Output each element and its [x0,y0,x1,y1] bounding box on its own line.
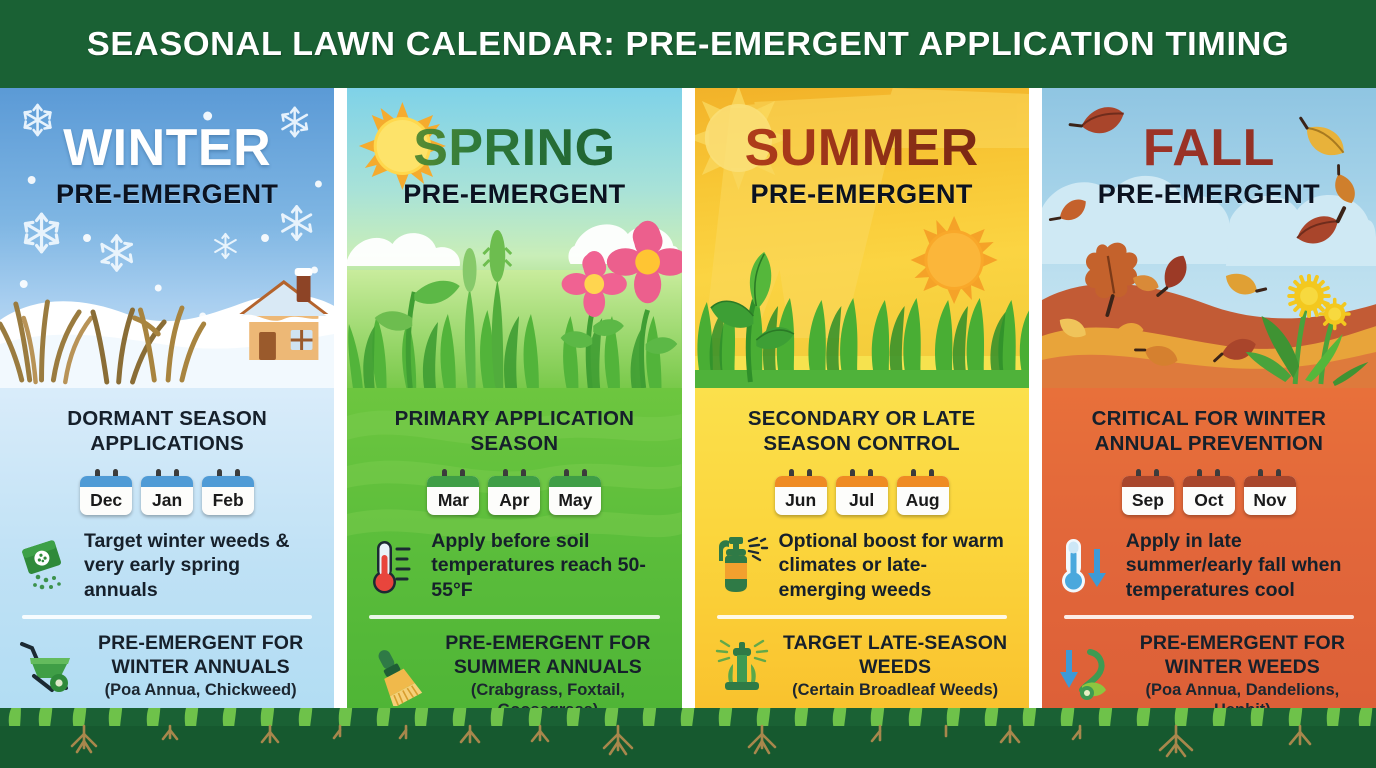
sprayer-bottle-icon [713,535,769,597]
month-chip[interactable]: Dec [80,469,132,515]
house-icon [239,268,328,360]
summer-note-text: Optional boost for warm climates or late… [779,529,1011,602]
month-chip[interactable]: Jan [141,469,193,515]
fall-note-row: Apply in late summer/early fall when tem… [1058,529,1360,602]
summer-hero-art: Summer Pre-Emergent [695,88,1029,388]
spring-divider [369,615,659,619]
thermometer-icon [365,535,421,597]
down-arrow-icon [1088,549,1106,587]
fall-headline: Critical for Winter Annual Prevention [1058,406,1360,456]
fall-divider [1064,615,1354,619]
wheelbarrow-icon [18,636,76,696]
summer-headline: Secondary or Late Season Control [711,406,1013,456]
sun-icon [359,102,446,190]
month-chip[interactable]: Jul [836,469,888,515]
winter-note-row: Target winter weeds & very early spring … [16,529,318,602]
month-chip[interactable]: Apr [488,469,540,515]
down-arrow-icon [1060,650,1078,688]
summer-scene-icon [695,88,1029,388]
winter-divider [22,615,312,619]
thermometer-cold-icon [1060,535,1116,597]
winter-note-text: Target winter weeds & very early spring … [84,529,316,602]
spring-product-examples: (Crabgrass, Foxtail, Goosegrass) [432,681,663,708]
summer-divider [717,615,1007,619]
spring-product-row: Pre-Emergent for Summer Annuals (Crabgra… [363,632,665,708]
fall-product-title: Pre-Emergent for Winter Weeds [1140,632,1345,677]
winter-product-row: Pre-Emergent for Winter Annuals (Poa Ann… [16,632,318,701]
fertilizer-bag-icon [18,535,74,597]
summer-content: Secondary or Late Season Control Jun Jul [695,388,1029,708]
month-chip[interactable]: Sep [1122,469,1174,515]
spring-hero-art: Spring Pre-Emergent [347,88,681,388]
sprinkler-icon [713,636,771,696]
panel-summer[interactable]: Summer Pre-Emergent Secondary or Late Se… [695,88,1029,708]
summer-product-row: Target Late-Season Weeds (Certain Broadl… [711,632,1013,701]
month-chip[interactable]: Feb [202,469,254,515]
infographic-root: Seasonal Lawn Calendar: Pre-Emergent App… [0,0,1376,768]
month-chip[interactable]: Oct [1183,469,1235,515]
season-panels: Winter Pre-Emergent Dormant Season Appli… [0,88,1376,708]
winter-hero-art: Winter Pre-Emergent [0,88,334,388]
month-chip[interactable]: Nov [1244,469,1296,515]
spring-headline: Primary Application Season [363,406,665,456]
panel-fall[interactable]: Fall Pre-Emergent Critical for Winter An… [1042,88,1376,708]
spring-note-row: Apply before soil temperatures reach 50-… [363,529,665,602]
page-title: Seasonal Lawn Calendar: Pre-Emergent App… [87,25,1289,63]
spreader-brush-icon [365,646,423,706]
footer-grass-band [0,708,1376,768]
fall-hero-art: Fall Pre-Emergent [1042,88,1376,388]
fall-scene-icon [1042,88,1376,388]
page-header: Seasonal Lawn Calendar: Pre-Emergent App… [0,0,1376,88]
winter-product-title: Pre-Emergent for Winter Annuals [98,632,303,677]
winter-headline: Dormant Season Applications [16,406,318,456]
spring-scene-icon [347,88,681,388]
summer-product-examples: (Certain Broadleaf Weeds) [780,681,1011,701]
sun-icon [910,216,997,304]
winter-product-examples: (Poa Annua, Chickweed) [85,681,316,701]
month-chip[interactable]: Jun [775,469,827,515]
summer-month-chips: Jun Jul Aug [711,469,1013,515]
spring-product-title: Pre-Emergent for Summer Annuals [445,632,650,677]
fall-note-text: Apply in late summer/early fall when tem… [1126,529,1358,602]
panel-winter[interactable]: Winter Pre-Emergent Dormant Season Appli… [0,88,334,708]
fall-product-row: Pre-Emergent for Winter Weeds (Poa Annua… [1058,632,1360,708]
fall-content: Critical for Winter Annual Prevention Se… [1042,388,1376,708]
month-chip[interactable]: Aug [897,469,949,515]
fall-month-chips: Sep Oct Nov [1058,469,1360,515]
winter-content: Dormant Season Applications Dec Jan [0,388,334,708]
winter-scene-icon [0,88,334,388]
summer-note-row: Optional boost for warm climates or late… [711,529,1013,602]
summer-product-title: Target Late-Season Weeds [783,632,1007,677]
spring-month-chips: Mar Apr May [363,469,665,515]
spring-content: Primary Application Season Mar Apr M [347,388,681,708]
fall-product-examples: (Poa Annua, Dandelions, Henbit) [1127,681,1358,708]
panel-spring[interactable]: Spring Pre-Emergent Primary Application … [347,88,681,708]
month-chip[interactable]: May [549,469,601,515]
hand-spreader-icon [1060,646,1118,706]
month-chip[interactable]: Mar [427,469,479,515]
winter-month-chips: Dec Jan Feb [16,469,318,515]
spring-note-text: Apply before soil temperatures reach 50-… [431,529,663,602]
